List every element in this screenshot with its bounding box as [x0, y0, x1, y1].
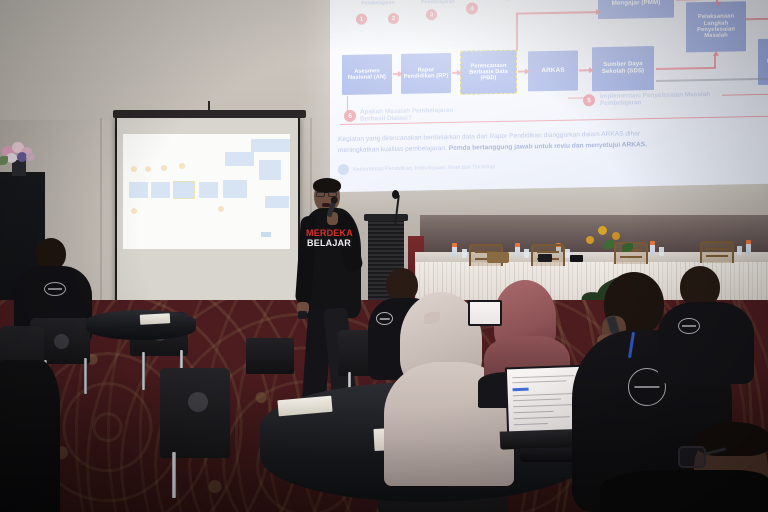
faint-box-8 — [251, 139, 290, 152]
document-text-line — [513, 399, 561, 402]
slide-line-red — [722, 94, 768, 96]
attendee-back-right — [662, 266, 750, 376]
main-projection-slide: Identifikasi Masalah Pembelajaran Priori… — [330, 0, 768, 192]
pull-down-projection-screen — [115, 115, 300, 305]
shirt-logo-icon — [44, 282, 66, 296]
document-text-line — [513, 393, 579, 396]
slide-box-rapor-pendidikan: Rapor Pendidikan (RP) — [401, 53, 451, 94]
slide-badge-5: 5 — [583, 94, 595, 106]
slide-body-line-2b: Pemda bertanggung jawab untuk reviu dan … — [449, 141, 647, 152]
slide-badge-2: 2 — [388, 13, 399, 24]
water-bottle — [650, 241, 655, 255]
laptop-display-back — [470, 302, 500, 324]
slide-arrow — [714, 55, 716, 68]
slide-arrow-head — [713, 51, 719, 56]
slide-box-platform-merdeka-mengajar: Platform Merdeka Mengajar (PMM) — [598, 0, 674, 19]
plant-leaf — [604, 240, 614, 249]
paper-on-table — [140, 313, 170, 325]
slide-line-gray — [656, 78, 768, 82]
slide-arrow — [656, 67, 716, 70]
shirt-logo-icon — [678, 318, 700, 334]
chair-leg — [172, 452, 176, 498]
wall-seam — [100, 118, 102, 318]
slide-arrow-vertical — [516, 13, 518, 51]
yellow-flower — [586, 236, 594, 244]
document-text-line — [512, 375, 574, 378]
glasses-icon — [678, 446, 706, 468]
drinking-glass — [737, 246, 742, 255]
slide-arrow-head — [398, 70, 403, 76]
kemendikbud-logo-icon — [338, 164, 349, 175]
wooden-chair — [700, 241, 734, 263]
yellow-flower — [598, 226, 607, 235]
glasses-icon — [316, 192, 325, 197]
faint-box-4 — [199, 182, 218, 198]
document-text-line — [512, 380, 566, 383]
wooden-box-on-table — [487, 252, 509, 263]
slide-footer: Kementerian Pendidikan, Kebudayaan, Rise… — [338, 161, 495, 175]
plant-leaf — [622, 243, 633, 252]
document-text-line — [513, 411, 553, 413]
faint-badge-1 — [131, 166, 137, 172]
slide-arrow-head — [596, 9, 601, 15]
slide-footer-text: Kementerian Pendidikan, Kebudayaan, Rise… — [353, 164, 495, 173]
screen-hook-icon — [208, 101, 210, 113]
faint-badge-3 — [161, 165, 167, 171]
yellow-flower — [612, 232, 620, 240]
slide-box-perencanaan-berbasis-data: Perencanaan Berbasis Data (PBD) — [460, 50, 517, 95]
slide-box-pelaksanaan-langkah: Pelaksanaan Langkah Penyelesaian Masalah — [686, 1, 746, 52]
slide-top-label-1: Identifikasi Masalah Pembelajaran — [352, 0, 404, 7]
faint-box-1 — [129, 182, 148, 198]
slide-badge-3: 3 — [426, 9, 437, 20]
drinking-glass — [462, 249, 467, 258]
washed-out-slide — [123, 134, 290, 249]
faint-badge-6 — [131, 208, 137, 214]
slide-annotation-5: Implementasi Penyelesaian Masalah Pembel… — [600, 91, 720, 108]
presenter-hair — [313, 178, 341, 193]
water-bottle — [746, 240, 751, 254]
screen-top-bar — [113, 110, 306, 118]
foreground-chair-left — [0, 360, 60, 512]
slide-arrow-head — [715, 2, 721, 7]
water-bottle — [452, 243, 457, 257]
presentation-room-scene: Identifikasi Masalah Pembelajaran Priori… — [0, 0, 768, 512]
podium-top — [364, 214, 408, 221]
faint-box-2 — [151, 182, 170, 198]
water-bottle — [515, 243, 520, 257]
faint-badge-5 — [218, 206, 224, 212]
slide-arrow — [676, 0, 718, 1]
podium-mic-icon — [392, 190, 399, 199]
document-text-line — [514, 416, 570, 419]
dark-object-on-table — [538, 254, 552, 262]
faint-box-6 — [225, 152, 254, 166]
banquet-chair — [160, 368, 230, 458]
document-text-line — [514, 423, 548, 425]
slide-badge-1: 1 — [356, 14, 367, 25]
document-text-line — [513, 404, 573, 407]
foreground-shoulder — [600, 470, 768, 512]
slide-arrow-horizontal — [516, 11, 598, 15]
slide-badge-4: 4 — [466, 2, 478, 14]
faint-box-7 — [259, 160, 281, 180]
slide-line-red — [746, 18, 768, 20]
chair-emblem — [54, 334, 69, 349]
drinking-glass — [524, 249, 529, 258]
faint-footer-logo-icon — [261, 232, 271, 237]
dark-object-on-table — [570, 255, 583, 262]
faint-badge-2 — [145, 166, 151, 172]
slide-arrow-head — [457, 69, 462, 75]
chair-emblem — [188, 392, 208, 412]
faint-box-3 — [173, 181, 195, 199]
slide-body-line-2a: meningkatkan kualitas pembelajaran. — [338, 145, 449, 154]
slide-line-red — [347, 96, 348, 112]
presenter-shirt-text-line2: BELAJAR — [306, 238, 352, 248]
hijab-pin-fold — [424, 312, 440, 324]
slide-top-label-3: Masalah Pembelajaran — [476, 0, 528, 3]
slide-badge-6: 6 — [344, 110, 356, 122]
faint-badge-4 — [179, 163, 185, 169]
presenter-speaking: MERDEKA BELAJAR — [300, 180, 370, 420]
faint-box-5 — [223, 180, 247, 198]
slide-box-arkas: ARKAS — [528, 50, 578, 91]
presenter-shirt-text-line1: MERDEKA — [306, 228, 352, 238]
floor-speaker-box — [246, 338, 294, 374]
open-laptop-back[interactable] — [468, 300, 502, 326]
slide-annotation-6: Apakah Masalah Pembelajaran Berhasil Dia… — [360, 106, 480, 123]
slide-arrow-head — [589, 67, 594, 73]
slide-top-label-2: Prioritas Masalah Pembelajaran — [412, 0, 464, 6]
attendee-torso — [658, 302, 754, 384]
slide-box-sumber-daya-sekolah: Sumber Daya Sekolah (SDS) — [592, 46, 654, 91]
chair-leg — [142, 352, 145, 390]
chair-leg — [84, 358, 87, 394]
document-highlight — [513, 388, 529, 392]
faint-box-9 — [265, 196, 289, 208]
drinking-glass — [659, 247, 664, 256]
slide-arrow-head — [525, 68, 530, 74]
flower-petal — [26, 153, 35, 161]
slide-box-asesmen-nasional: Asesmen Nasional (AN) — [342, 54, 392, 95]
presentation-clicker — [298, 311, 307, 319]
